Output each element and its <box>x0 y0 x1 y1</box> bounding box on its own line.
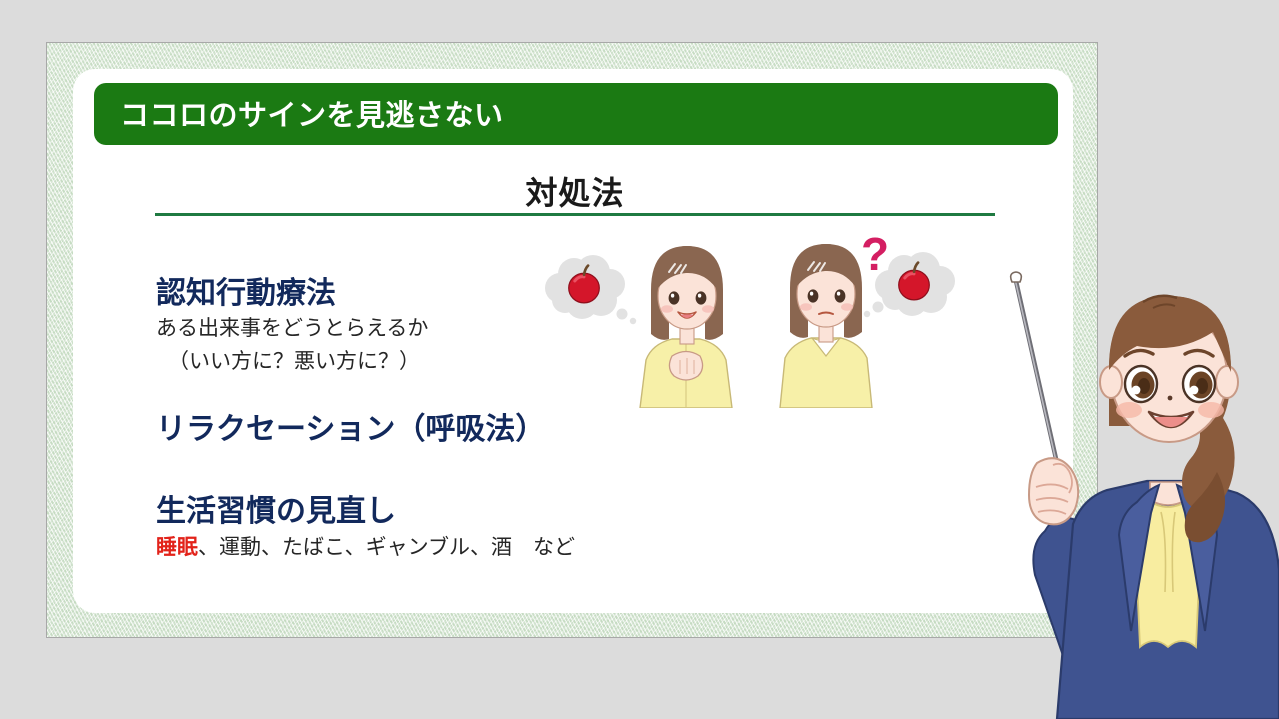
topic-body-lifestyle-items: 睡眠、運動、たばこ、ギャンブル、酒 など <box>156 531 575 561</box>
happy-girl <box>640 246 732 408</box>
puzzled-girl <box>780 244 872 408</box>
topic-title-lifestyle-review: 生活習慣の見直し <box>156 486 396 530</box>
pointer-stick <box>1011 272 1059 472</box>
highlight-sleep: 睡眠 <box>156 536 198 559</box>
thought-bubble-apple-left <box>545 255 636 324</box>
slide-header-title: ココロのサインを見逃さない <box>120 92 504 134</box>
section-heading: 対処法 <box>155 168 995 214</box>
slide-stage: ココロのサインを見逃さない 対処法 認知行動療法 ある出来事をどうとらえるか （… <box>0 0 1279 719</box>
slide-header-bar: ココロのサインを見逃さない <box>94 83 1058 145</box>
presenter-woman <box>1003 250 1279 719</box>
heading-divider <box>155 213 995 216</box>
lifestyle-items-rest: 、運動、たばこ、ギャンブル、酒 など <box>198 536 575 559</box>
topic-title-relaxation: リラクセーション（呼吸法） <box>156 404 545 448</box>
cognitive-reframing-illustration: ? <box>520 228 980 408</box>
topic-body-line-2: （いい方に？悪い方に？） <box>168 345 420 375</box>
topic-body-line-1: ある出来事をどうとらえるか <box>156 312 428 342</box>
topic-title-cognitive-behavioral-therapy: 認知行動療法 <box>156 268 336 312</box>
